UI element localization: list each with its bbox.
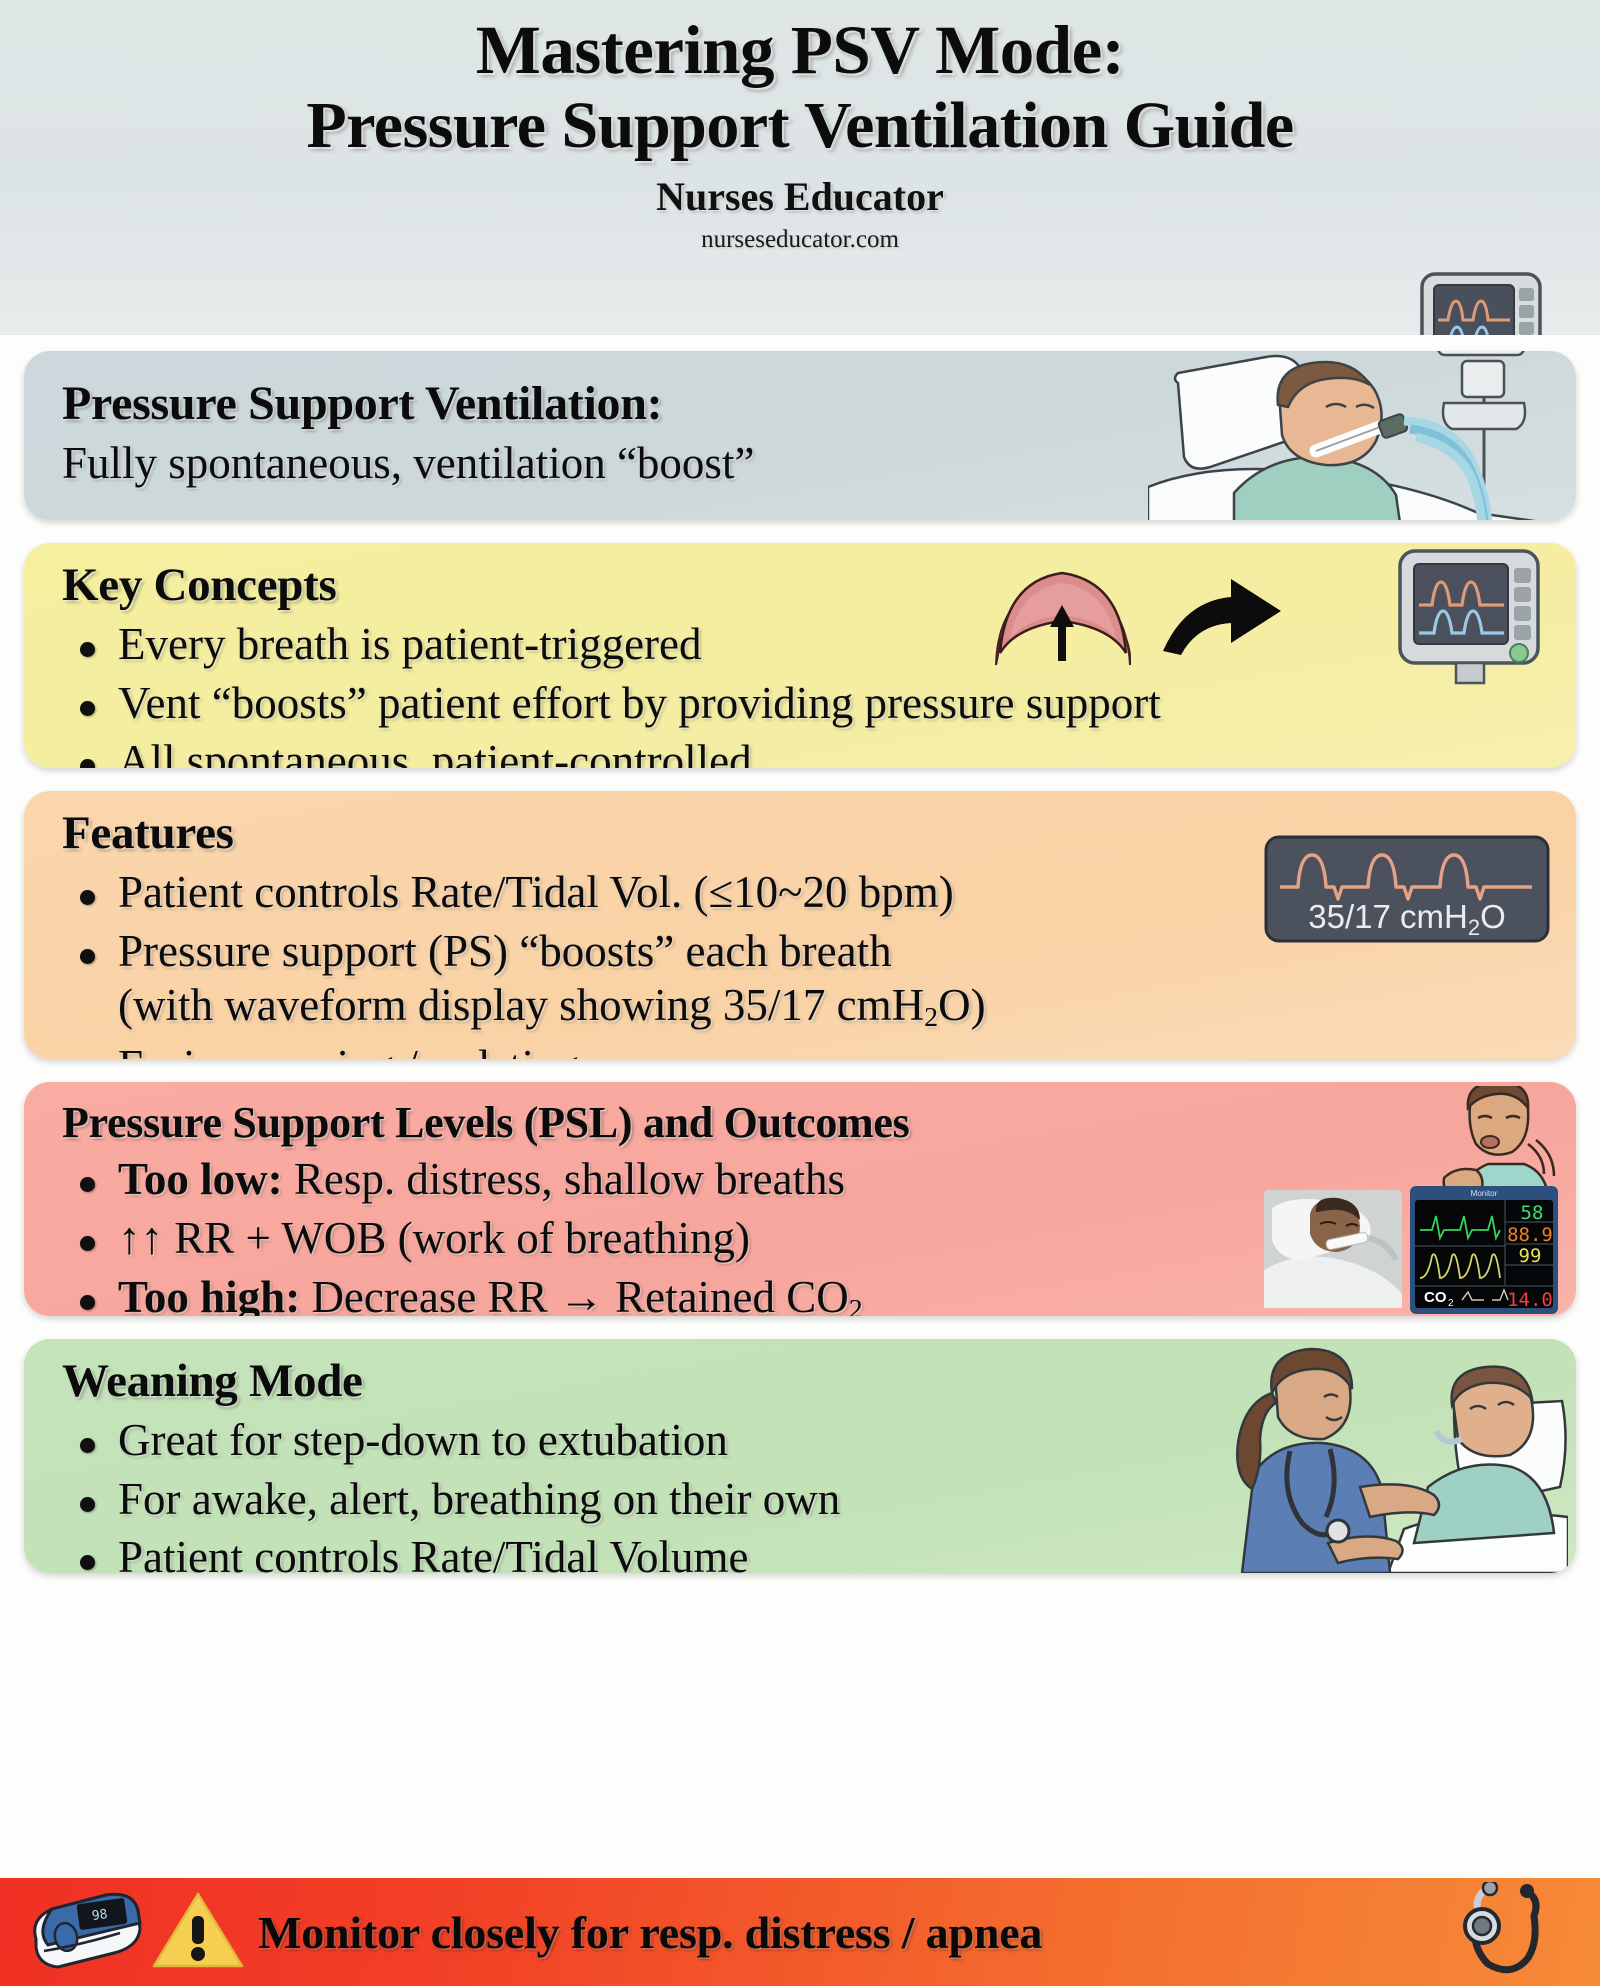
warning-banner: 98 Monitor closely for resp. distress / …: [0, 1878, 1600, 1986]
warning-banner-text: Monitor closely for resp. distress / apn…: [258, 1906, 1042, 1959]
page-title-line1: Mastering PSV Mode:: [0, 12, 1600, 89]
svg-text:CO: CO: [1424, 1289, 1447, 1306]
brand-subtitle: Nurses Educator: [0, 173, 1600, 220]
svg-text:98: 98: [91, 1906, 109, 1923]
nurse-assisting-patient-illustration: [1218, 1347, 1568, 1573]
ventilator-monitor-icon: [1396, 549, 1546, 694]
stethoscope-icon: [1454, 1882, 1564, 1983]
list-item: Vent “boosts” patient effort by providin…: [62, 675, 1576, 732]
header: Mastering PSV Mode: Pressure Support Ven…: [0, 0, 1600, 335]
infographic-page: Mastering PSV Mode: Pressure Support Ven…: [0, 0, 1600, 1986]
waveform-badge: 35/17 cmH2O: [1264, 835, 1550, 948]
svg-text:14.0: 14.0: [1507, 1289, 1553, 1311]
card-psl-title: Pressure Support Levels (PSL) and Outcom…: [62, 1098, 1576, 1147]
curved-arrow-icon: [1159, 571, 1294, 662]
vital-signs-monitor: Monitor CO 2 58 88.9 99 14.0: [1410, 1186, 1558, 1316]
intubated-patient-illustration: [1148, 351, 1548, 520]
card-weaning-mode: Weaning Mode Great for step-down to extu…: [24, 1339, 1576, 1573]
website-url: nurseseducator.com: [0, 226, 1600, 254]
svg-text:99: 99: [1519, 1245, 1542, 1267]
list-item: Easier weaning / sedating: [62, 1038, 1576, 1059]
svg-text:2: 2: [1448, 1298, 1454, 1309]
card-pressure-support-ventilation: Pressure Support Ventilation: Fully spon…: [24, 351, 1576, 520]
card-key-title: Key Concepts: [62, 559, 1576, 612]
pulse-oximeter-icon: 98: [22, 1889, 148, 1976]
warning-triangle-icon: [152, 1890, 244, 1975]
card-pressure-support-levels: Pressure Support Levels (PSL) and Outcom…: [24, 1082, 1576, 1316]
svg-text:58: 58: [1521, 1202, 1544, 1224]
list-item-continuation: (with waveform display showing 35/17 cmH…: [62, 977, 1576, 1035]
svg-text:Monitor: Monitor: [1471, 1189, 1498, 1198]
ventilator-monitor-icon: [1418, 272, 1548, 335]
key-concepts-list: Every breath is patient-triggered Vent “…: [62, 616, 1576, 768]
svg-text:88.9: 88.9: [1507, 1224, 1553, 1246]
list-item: Every breath is patient-triggered: [62, 616, 1576, 673]
card-features: Features Patient controls Rate/Tidal Vol…: [24, 791, 1576, 1059]
sedated-patient-photo: [1264, 1190, 1402, 1313]
card-key-concepts: Key Concepts Every breath is patient-tri…: [24, 543, 1576, 768]
diaphragm-icon: [984, 557, 1144, 672]
page-title-line2: Pressure Support Ventilation Guide: [0, 89, 1600, 163]
features-waveform-text: (with waveform display showing 35/17 cmH…: [118, 980, 986, 1030]
list-item: All spontaneous, patient-controlled: [62, 733, 1576, 768]
